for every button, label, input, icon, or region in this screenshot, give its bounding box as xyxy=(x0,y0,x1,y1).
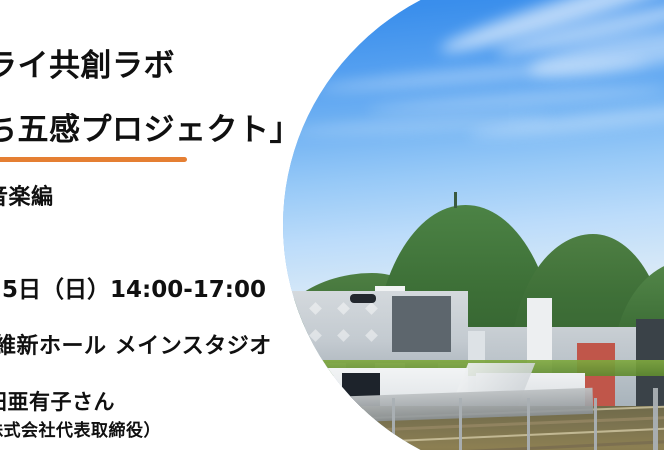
title-line-1: ライ共創ラボ xyxy=(0,40,175,85)
catenary-pole xyxy=(392,398,395,450)
subtitle: 音楽編 xyxy=(0,179,54,211)
catenary-pole xyxy=(325,398,328,450)
catenary-pole xyxy=(527,398,530,450)
cloud-wisp xyxy=(367,84,664,116)
roof-panel xyxy=(337,302,350,315)
title-underline-accent xyxy=(0,157,187,162)
event-venue: l維新ホール メインスタジオ xyxy=(0,328,272,360)
text-column: ライ共創ラボ ち五感プロジェクト」 音楽編 25日（日）14:00-17:00 … xyxy=(0,0,300,450)
catenary-pole xyxy=(459,398,462,450)
catenary-pole xyxy=(594,398,597,450)
contrail-streak xyxy=(323,0,349,39)
event-datetime: 25日（日）14:00-17:00 xyxy=(0,270,266,304)
roof-panel xyxy=(309,329,322,342)
dark-building xyxy=(392,296,451,352)
summit-tower xyxy=(454,192,457,208)
catenary-pole xyxy=(653,388,658,450)
rooftop-unit xyxy=(350,294,376,303)
photo-image xyxy=(283,0,664,450)
poster-canvas: ライ共創ラボ ち五感プロジェクト」 音楽編 25日（日）14:00-17:00 … xyxy=(0,0,664,450)
speaker-title: 株式会社代表取締役） xyxy=(0,416,161,441)
roof-panel xyxy=(365,302,378,315)
speaker-name: 田亜有子さん xyxy=(0,386,115,416)
roof-panel xyxy=(365,329,378,342)
roof-panel xyxy=(309,302,322,315)
title-line-2: ち五感プロジェクト」 xyxy=(0,104,301,149)
photo-panel xyxy=(283,0,664,450)
roof-panel xyxy=(337,329,350,342)
